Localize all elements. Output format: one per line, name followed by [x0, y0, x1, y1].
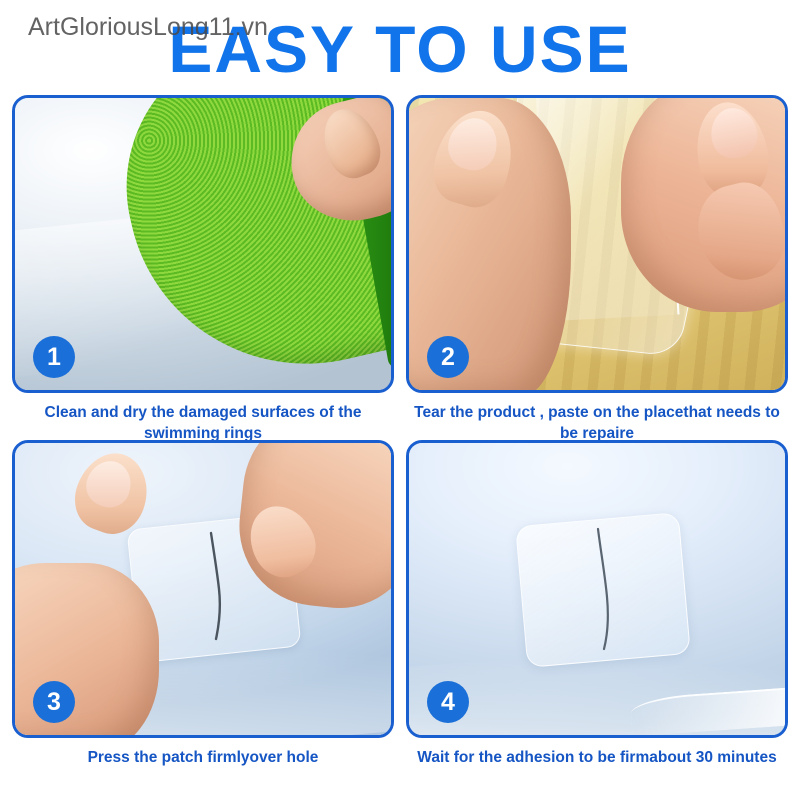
step-card-2[interactable]: 2 Tear the product , paste on the placet… [406, 95, 788, 444]
step-image-2: 2 [406, 95, 788, 393]
step-card-4[interactable]: 4 Wait for the adhesion to be firmabout … [406, 440, 788, 768]
step-caption-2: Tear the product , paste on the placetha… [406, 402, 788, 444]
step-image-1: 1 [12, 95, 394, 393]
crack-line-icon [585, 527, 619, 651]
step-card-1[interactable]: 1 Clean and dry the damaged surfaces of … [12, 95, 394, 444]
step-caption-4: Wait for the adhesion to be firmabout 30… [406, 747, 788, 768]
step-badge-2: 2 [427, 336, 469, 378]
crack-line-icon [195, 531, 235, 641]
watermark-text: ArtGloriousLong11.vn [28, 14, 268, 40]
left-hand [12, 563, 159, 738]
step-image-3: 3 [12, 440, 394, 738]
step-image-4: 4 [406, 440, 788, 738]
header: EASY TO USE ArtGloriousLong11.vn [0, 0, 800, 95]
step-badge-4: 4 [427, 681, 469, 723]
step-caption-1: Clean and dry the damaged surfaces of th… [12, 402, 394, 444]
step-card-3[interactable]: 3 Press the patch firmlyover hole [12, 440, 394, 768]
step-caption-3: Press the patch firmlyover hole [12, 747, 394, 768]
step-badge-1: 1 [33, 336, 75, 378]
step-badge-3: 3 [33, 681, 75, 723]
steps-grid: 1 Clean and dry the damaged surfaces of … [0, 95, 800, 800]
